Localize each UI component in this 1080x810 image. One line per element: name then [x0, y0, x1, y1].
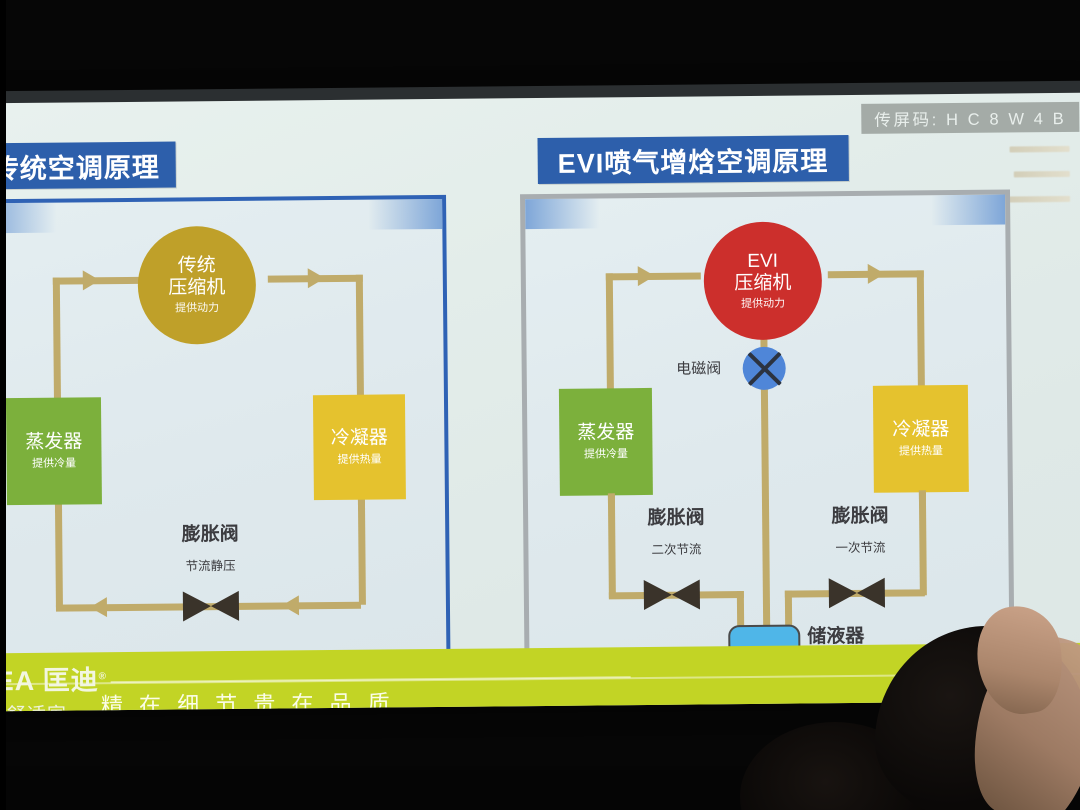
condenser-sublabel: 提供热量 — [899, 445, 943, 458]
expansion-valve-label-right: 膨胀阀 一次节流 — [800, 500, 921, 556]
corner-accent-top-right — [931, 195, 1005, 226]
condenser-node-right: 冷凝器 提供热量 — [873, 385, 969, 493]
evaporator-node-left: 蒸发器 提供冷量 — [6, 397, 102, 505]
condenser-node-left: 冷凝器 提供热量 — [313, 394, 406, 500]
compressor-label-line2: 压缩机 — [734, 273, 791, 296]
traditional-compressor-node: 传统 压缩机 提供动力 — [137, 226, 256, 345]
evaporator-node-right: 蒸发器 提供冷量 — [559, 388, 653, 496]
projection-screen: 传屏码: H C 8 W 4 B 传统空调原理 EVI喷气增焓空调原理 — [0, 91, 1080, 711]
photo-of-projection-screen: 传屏码: H C 8 W 4 B 传统空调原理 EVI喷气增焓空调原理 — [0, 0, 1080, 810]
evaporator-title: 蒸发器 — [25, 432, 82, 455]
condenser-title: 冷凝器 — [892, 419, 949, 442]
arrow-bottom-left — [90, 597, 107, 617]
expansion-valve-sublabel: 节流静压 — [130, 554, 290, 575]
registered-mark: ® — [99, 671, 107, 682]
screen-code-chip: 传屏码: H C 8 W 4 B — [861, 102, 1079, 134]
left-title-text: 传统空调原理 — [0, 145, 160, 186]
arrow-top-right — [308, 268, 325, 288]
traditional-ac-diagram-panel: 传统 压缩机 提供动力 蒸发器 提供冷量 冷凝器 提供热量 — [0, 195, 451, 697]
hamburger-bar-2 — [1014, 171, 1070, 178]
brand-mark: IDEA 匡迪® — [0, 658, 107, 698]
evaporator-title: 蒸发器 — [577, 422, 634, 445]
condenser-title: 冷凝器 — [331, 428, 388, 451]
pipe-right-down — [358, 500, 366, 605]
hamburger-bar-1 — [1010, 146, 1070, 153]
condenser-sublabel: 提供热量 — [337, 453, 381, 466]
compressor-label-line2: 压缩机 — [168, 277, 225, 300]
evaporator-sublabel: 提供冷量 — [584, 448, 628, 461]
pipe-evaporator-down — [608, 493, 616, 598]
corner-accent-top-left — [0, 203, 56, 234]
expansion-valve-left-sublabel: 二次节流 — [616, 538, 736, 558]
hamburger-menu-icon[interactable] — [1006, 139, 1071, 210]
expansion-valve-icon-left — [183, 591, 239, 622]
evaporator-sublabel: 提供冷量 — [32, 457, 76, 470]
expansion-valve-right-title: 膨胀阀 — [800, 500, 920, 528]
expansion-valve-right-sublabel: 一次节流 — [800, 536, 920, 556]
corner-accent-top-right — [368, 199, 442, 230]
evi-ac-diagram-panel: EVI 压缩机 提供动力 电磁阀 蒸发器 提供冷量 — [520, 189, 1015, 696]
corner-accent-top-left — [525, 198, 599, 229]
solenoid-valve-title: 电磁阀 — [657, 357, 741, 379]
expansion-valve-icon-left — [644, 579, 700, 610]
screen-code-text: 传屏码: H C 8 W 4 B — [874, 105, 1066, 131]
compressor-sublabel: 提供动力 — [175, 302, 219, 315]
brand-logo: IDEA 匡迪® 智能舒适家 — [0, 658, 107, 711]
hamburger-bar-3 — [1008, 196, 1070, 203]
arrow-top-left — [638, 266, 655, 286]
expansion-valve-icon-right — [829, 578, 885, 609]
arrow-top-left — [83, 270, 100, 290]
right-panel-title: EVI喷气增焓空调原理 — [537, 135, 848, 184]
compressor-label-line1: EVI — [747, 251, 778, 273]
brand-subtitle: 智能舒适家 — [0, 699, 107, 711]
pipe-left-down — [55, 503, 63, 608]
brand-slogan: 精 在 细 节 贵 在 品 质 — [101, 685, 395, 711]
evi-compressor-node: EVI 压缩机 提供动力 — [703, 221, 822, 340]
arrow-top-right — [868, 264, 885, 284]
left-panel-title: 传统空调原理 — [0, 141, 176, 189]
solenoid-valve-icon — [742, 347, 785, 390]
right-title-text: EVI喷气增焓空调原理 — [558, 139, 829, 181]
foreground-dark-left-edge — [0, 0, 6, 810]
compressor-sublabel: 提供动力 — [741, 298, 785, 311]
compressor-label-line1: 传统 — [178, 255, 216, 277]
brand-mark-text: IDEA 匡迪 — [0, 665, 99, 696]
expansion-valve-label-left: 膨胀阀 节流静压 — [130, 518, 291, 575]
expansion-valve-label-left: 膨胀阀 二次节流 — [616, 502, 737, 558]
expansion-valve-title: 膨胀阀 — [130, 518, 290, 547]
expansion-valve-left-title: 膨胀阀 — [616, 502, 736, 530]
solenoid-valve-label: 电磁阀 — [657, 357, 741, 379]
arrow-bottom-right — [282, 595, 299, 615]
pipe-top-left-horizontal — [53, 277, 148, 285]
